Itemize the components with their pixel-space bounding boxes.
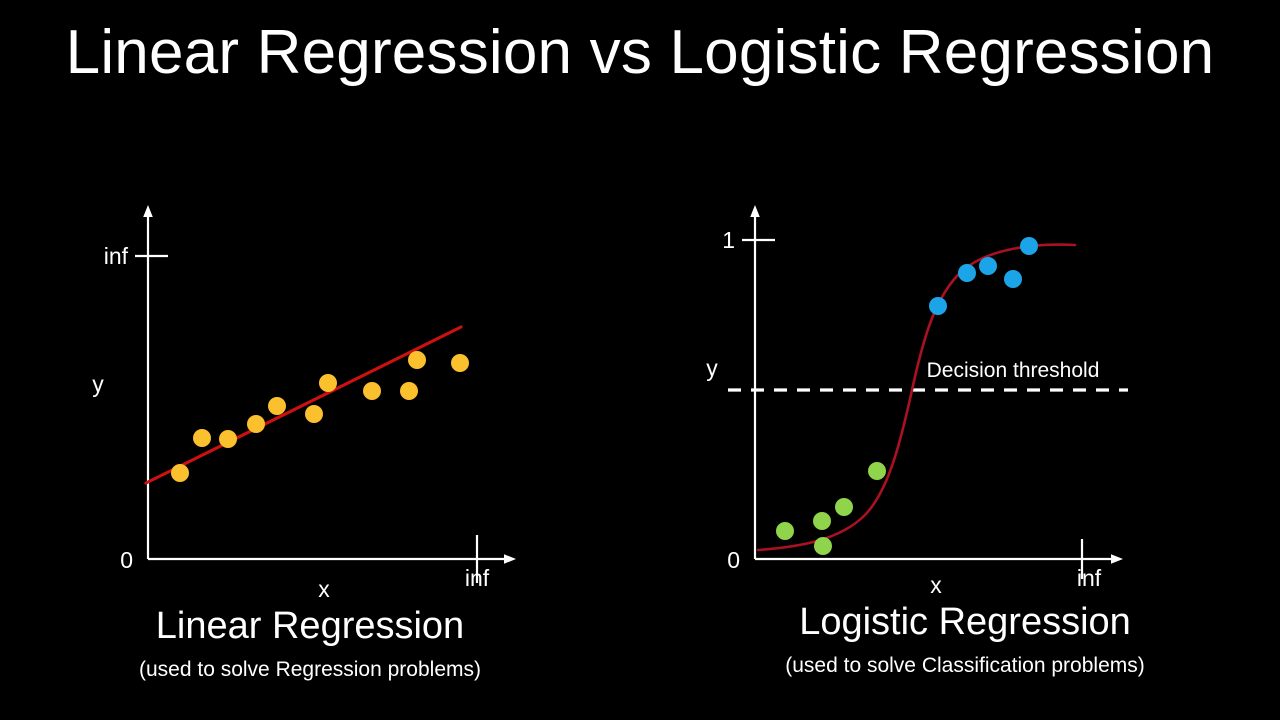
data-point [400, 382, 418, 400]
data-point-class1 [958, 264, 976, 282]
data-point-class0 [813, 512, 831, 530]
best-fit-line [146, 327, 461, 483]
x-axis-arrow [1111, 554, 1123, 564]
y-origin-label: 0 [727, 547, 740, 573]
data-point-class0 [814, 537, 832, 555]
slide-canvas: Linear Regression vs Logistic Regression [0, 0, 1280, 720]
x-axis-label: x [318, 576, 330, 602]
logistic-regression-chart: 1 0 y x inf Decision threshold [650, 195, 1210, 615]
y-tick-label-inf: inf [104, 243, 129, 269]
x-axis-arrow [504, 554, 516, 564]
linear-caption-title: Linear Regression [30, 605, 590, 649]
data-point-class0 [868, 462, 886, 480]
data-point-class1 [1004, 270, 1022, 288]
data-point [319, 374, 337, 392]
decision-threshold-label: Decision threshold [927, 359, 1100, 382]
linear-regression-caption: Linear Regression (used to solve Regress… [30, 605, 590, 682]
logistic-caption-subtitle: (used to solve Classification problems) [685, 654, 1245, 678]
data-point-class0 [776, 522, 794, 540]
data-point [171, 464, 189, 482]
data-point-class0 [835, 498, 853, 516]
x-tick-label-inf: inf [465, 565, 490, 591]
y-tick-label-one: 1 [722, 227, 735, 253]
logistic-caption-title: Logistic Regression [685, 601, 1245, 645]
data-point [268, 397, 286, 415]
sigmoid-curve [758, 245, 1075, 550]
linear-regression-chart: inf 0 y x inf [40, 195, 600, 615]
y-axis-arrow [143, 205, 153, 217]
x-axis-label: x [930, 572, 942, 598]
y-axis-arrow [750, 205, 760, 217]
y-axis-label: y [706, 355, 718, 381]
data-point [305, 405, 323, 423]
y-axis-label: y [92, 371, 104, 397]
page-title: Linear Regression vs Logistic Regression [0, 20, 1280, 85]
x-tick-label-inf: inf [1077, 565, 1102, 591]
logistic-regression-caption: Logistic Regression (used to solve Class… [685, 601, 1245, 678]
data-point-class1 [979, 257, 997, 275]
data-point [219, 430, 237, 448]
linear-caption-subtitle: (used to solve Regression problems) [30, 658, 590, 682]
data-point [363, 382, 381, 400]
data-point [408, 351, 426, 369]
data-point [451, 354, 469, 372]
data-point [247, 415, 265, 433]
data-point-class1 [929, 297, 947, 315]
data-point [193, 429, 211, 447]
y-origin-label: 0 [120, 547, 133, 573]
data-point-class1 [1020, 237, 1038, 255]
